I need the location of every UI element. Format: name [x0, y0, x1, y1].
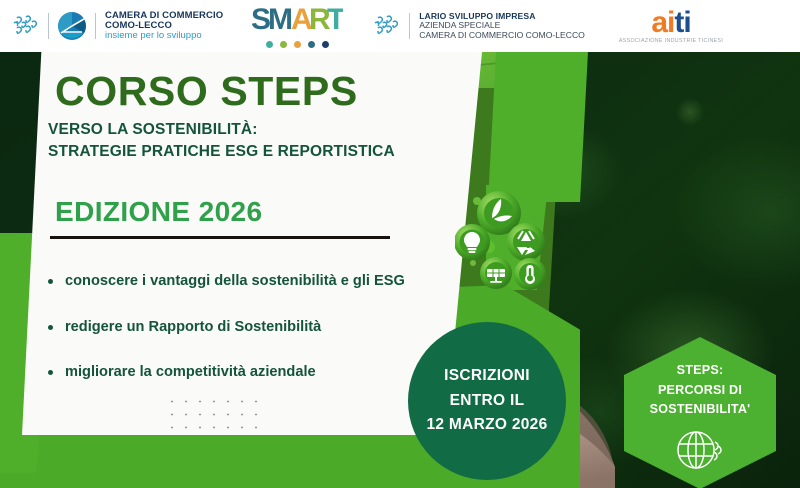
title-divider [50, 236, 390, 239]
list-item: redigere un Rapporto di Sostenibilità [48, 318, 408, 338]
lario-sviluppo-knot-icon [371, 11, 401, 41]
edition-label: EDIZIONE 2026 [55, 196, 263, 228]
deadline-badge: ISCRIZIONI ENTRO IL 12 MARZO 2026 [408, 322, 566, 480]
smart-wordmark: S M A R T [251, 4, 343, 39]
smart-logo: S M A R T [251, 4, 343, 48]
aiti-wordmark: aiti [651, 9, 690, 36]
logo-divider [95, 13, 96, 39]
svg-text:T: T [327, 4, 343, 34]
subtitle-line-2: STRATEGIE PRATICHE ESG E REPORTISTICA [48, 141, 395, 163]
bullet-dot-icon [48, 279, 53, 284]
shape-bright-column [488, 52, 588, 202]
decorative-dot-grid [165, 395, 263, 431]
chamber-of-commerce-circle-icon [57, 11, 87, 41]
cc-line-3: insieme per lo sviluppo [105, 31, 223, 41]
hex-line-2: PERCORSI DI [658, 381, 742, 401]
hex-line-1: STEPS: [677, 361, 724, 381]
lsi-line-3: CAMERA DI COMMERCIO COMO-LECCO [419, 31, 585, 41]
globe-icon [673, 426, 727, 479]
list-item-label: redigere un Rapporto di Sostenibilità [65, 318, 321, 338]
camera-di-commercio-logo: CAMERA DI COMMERCIO COMO-LECCO insieme p… [10, 11, 223, 41]
deadline-line-1: ISCRIZIONI [444, 364, 530, 389]
bullet-dot-icon [48, 325, 53, 330]
list-item: conoscere i vantaggi della sostenibilità… [48, 272, 408, 292]
svg-text:M: M [268, 4, 293, 34]
subtitle-line-1: VERSO LA SOSTENIBILITÀ: [48, 119, 395, 141]
aiti-tagline: ASSOCIAZIONE INDUSTRIE TICINESI [619, 38, 723, 44]
hex-line-3: SOSTENIBILITA' [650, 400, 751, 420]
logo-header-bar: CAMERA DI COMMERCIO COMO-LECCO insieme p… [0, 0, 800, 52]
chamber-of-commerce-knot-icon [10, 11, 40, 41]
logo-divider [48, 13, 49, 39]
list-item-label: conoscere i vantaggi della sostenibilità… [65, 272, 405, 292]
bullet-dot-icon [48, 370, 53, 375]
list-item: migliorare la competitività aziendale [48, 363, 408, 383]
lario-sviluppo-text: LARIO SVILUPPO IMPRESA AZIENDA SPECIALE … [419, 12, 585, 41]
lario-sviluppo-impresa-logo: LARIO SVILUPPO IMPRESA AZIENDA SPECIALE … [371, 11, 585, 41]
logo-divider [409, 13, 410, 39]
benefits-list: conoscere i vantaggi della sostenibilità… [48, 272, 408, 409]
smart-dots-icon [266, 41, 329, 48]
poster: CORSO STEPS VERSO LA SOSTENIBILITÀ: STRA… [0, 0, 800, 488]
aiti-logo: aiti ASSOCIAZIONE INDUSTRIE TICINESI [619, 9, 723, 44]
deadline-line-2: ENTRO IL [450, 389, 525, 414]
camera-di-commercio-text: CAMERA DI COMMERCIO COMO-LECCO insieme p… [105, 11, 223, 41]
deadline-line-3: 12 MARZO 2026 [426, 413, 547, 438]
eco-icons-cluster [455, 185, 570, 295]
page-title: CORSO STEPS [55, 68, 358, 115]
list-item-label: migliorare la competitività aziendale [65, 363, 316, 383]
page-subtitle: VERSO LA SOSTENIBILITÀ: STRATEGIE PRATIC… [48, 119, 395, 164]
